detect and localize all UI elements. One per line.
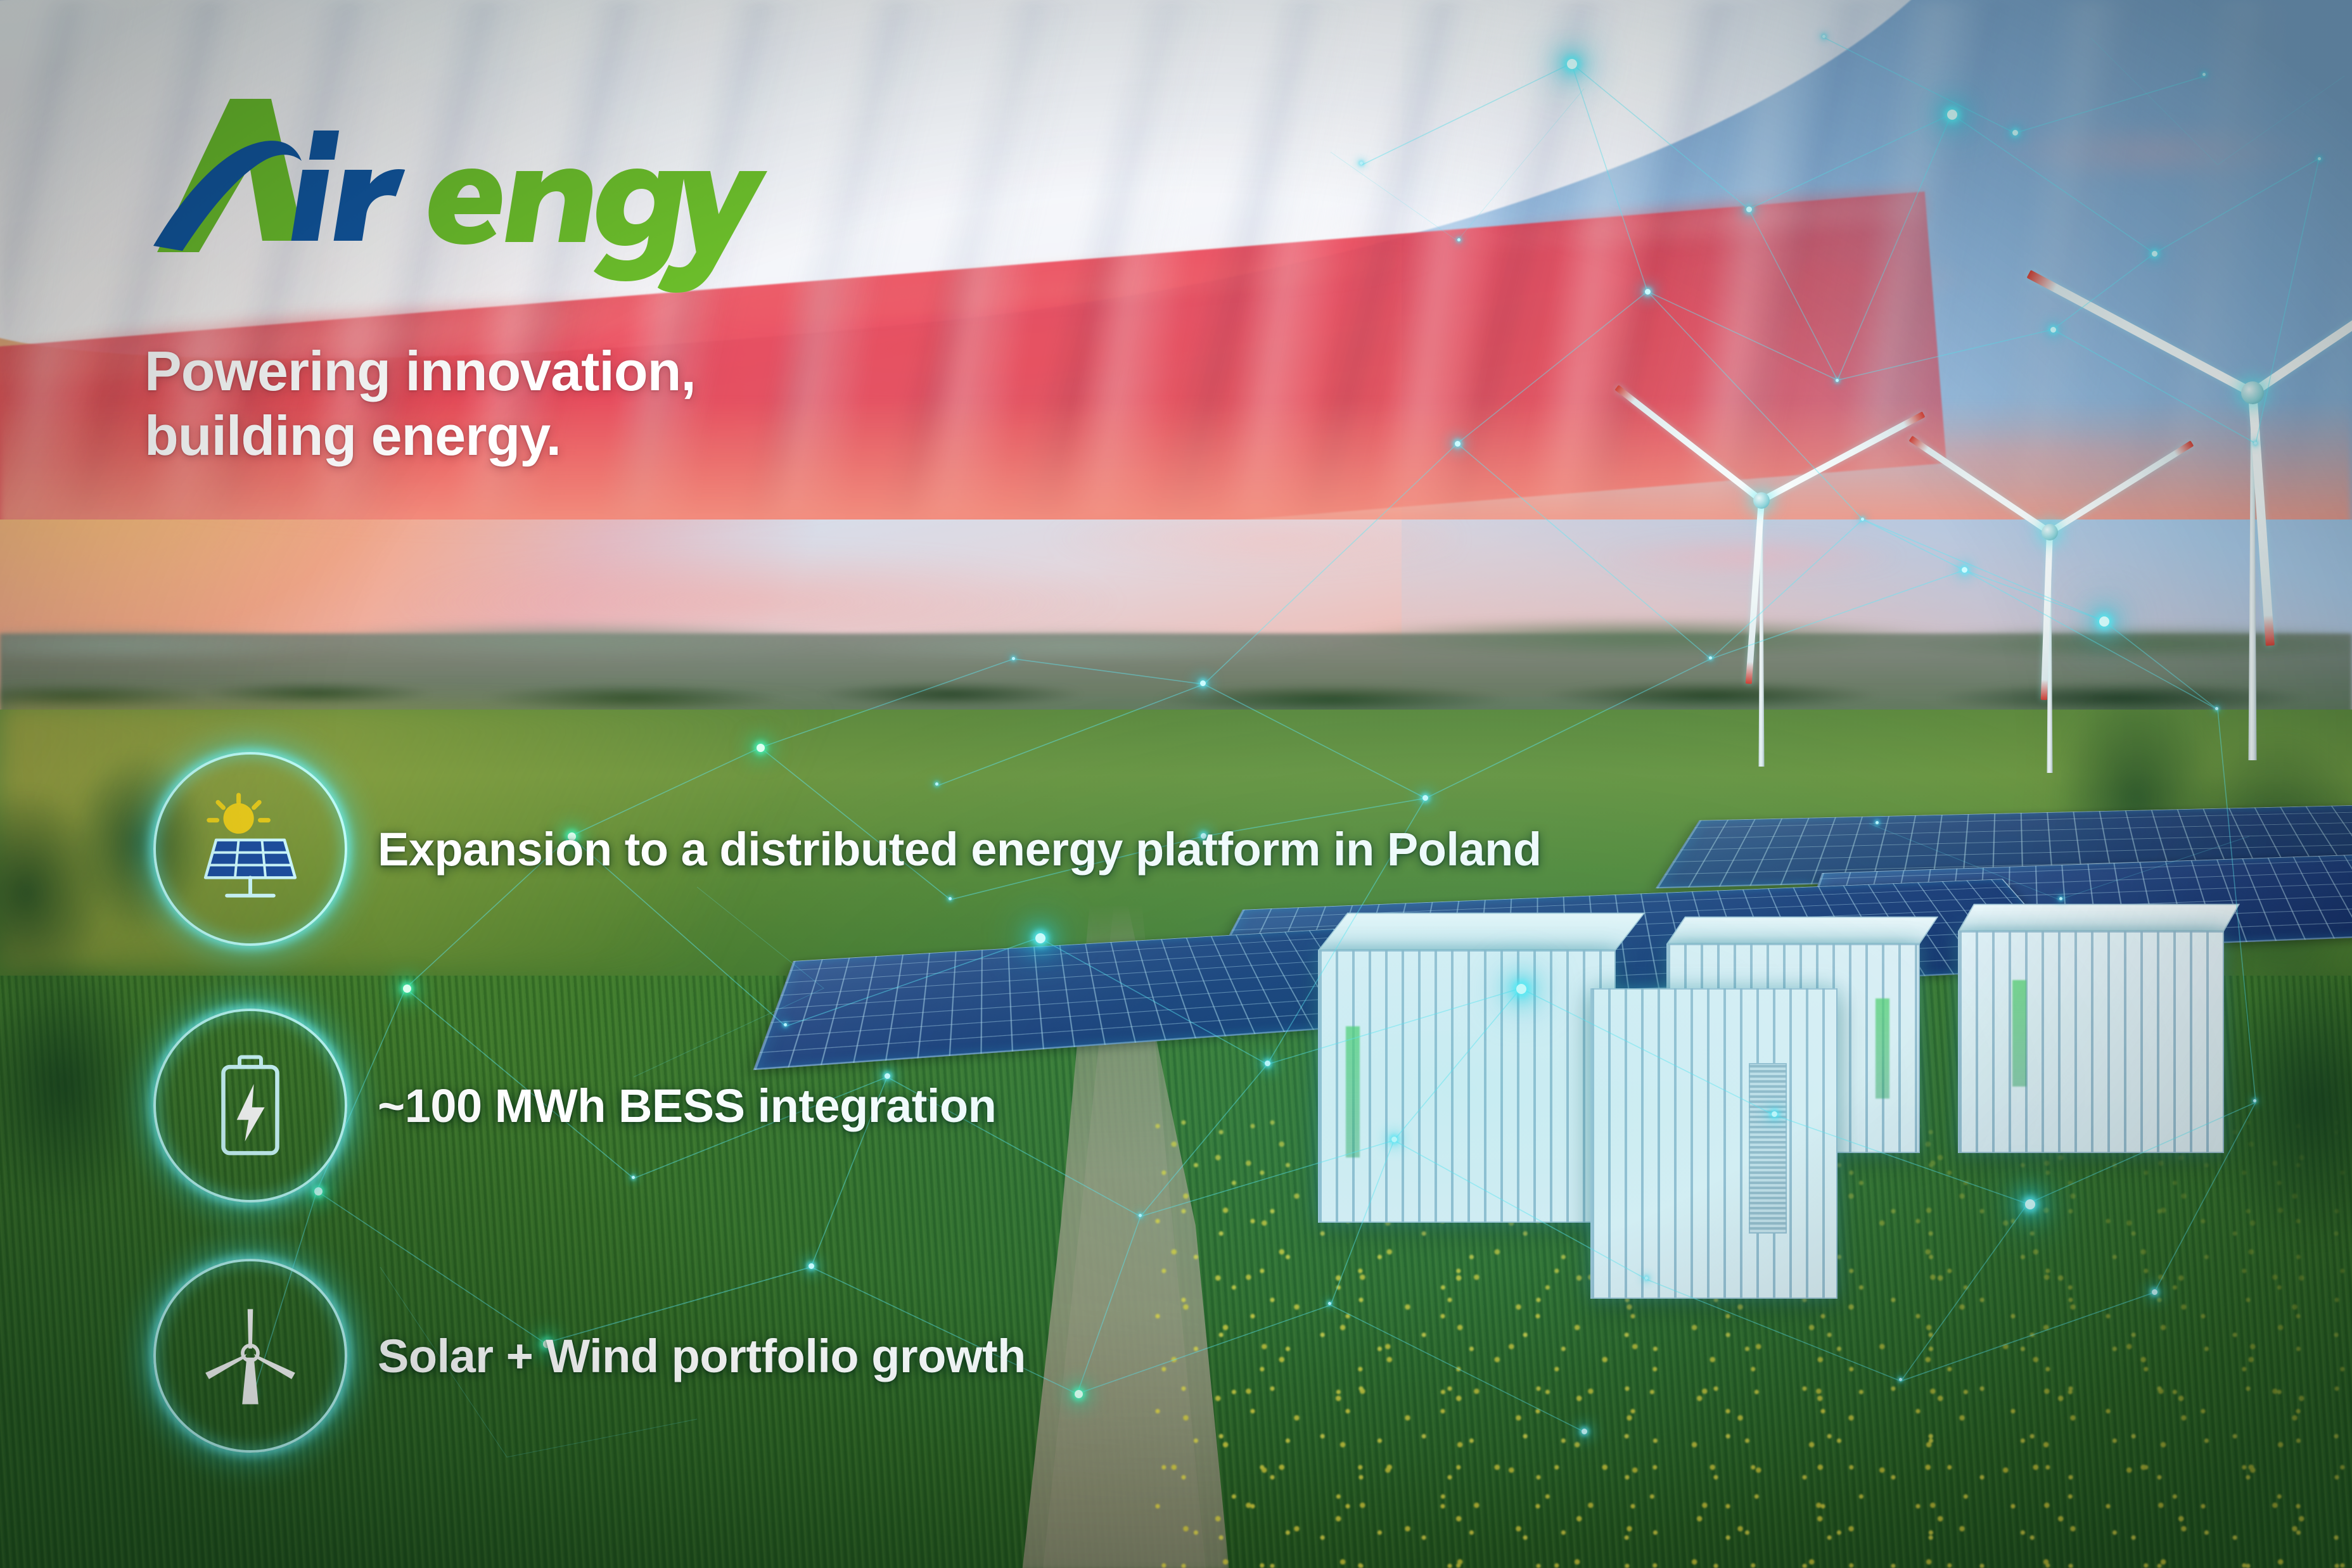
feature-list: Expansion to a distributed energy platfo… bbox=[0, 0, 2352, 1568]
feature-label: ~100 MWh BESS integration bbox=[378, 1079, 996, 1133]
feature-item-bess[interactable]: ~100 MWh BESS integration bbox=[146, 1001, 996, 1210]
hero-banner: Powering innovation, building energy. bbox=[0, 0, 2352, 1568]
icon-ring-solar bbox=[146, 744, 355, 953]
feature-item-solar[interactable]: Expansion to a distributed energy platfo… bbox=[146, 744, 1542, 953]
icon-ring-battery bbox=[146, 1001, 355, 1210]
wind-turbine-icon bbox=[196, 1302, 304, 1410]
solar-panel-icon bbox=[196, 795, 304, 903]
icon-ring-wind bbox=[146, 1251, 355, 1460]
feature-item-wind[interactable]: Solar + Wind portfolio growth bbox=[146, 1251, 1026, 1460]
battery-bolt-icon bbox=[196, 1052, 304, 1159]
feature-label: Expansion to a distributed energy platfo… bbox=[378, 822, 1542, 876]
feature-label: Solar + Wind portfolio growth bbox=[378, 1329, 1026, 1383]
